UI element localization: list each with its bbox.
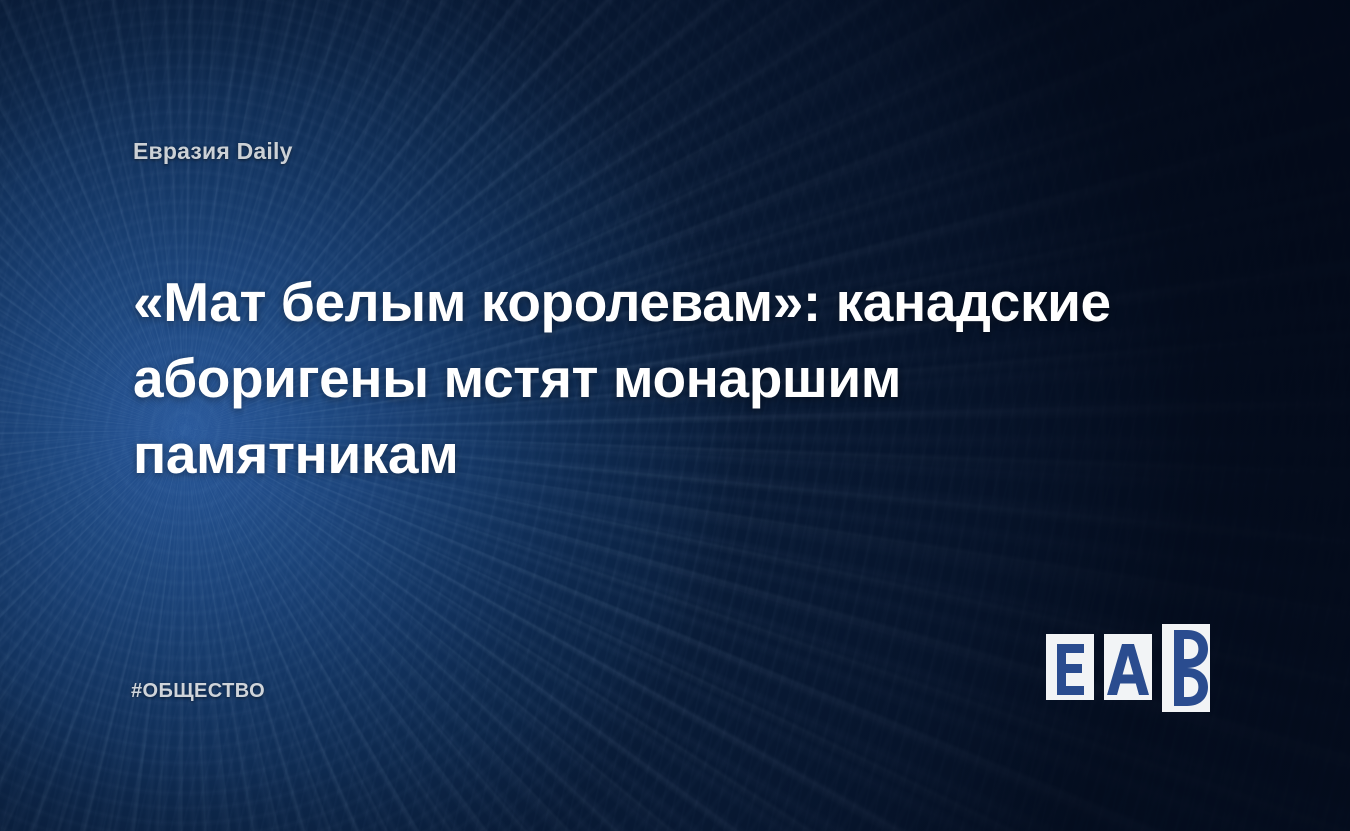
category-tag: #ОБЩЕСТВО (131, 680, 265, 703)
article-headline: «Мат белым королевам»: канадские абориге… (133, 264, 1143, 492)
logo-tile-e (1046, 634, 1094, 700)
social-share-card: Евразия Daily «Мат белым королевам»: кан… (0, 0, 1350, 831)
eadaily-logo (1046, 618, 1226, 718)
publisher-name: Евразия Daily (133, 138, 293, 165)
logo-tile-a (1104, 634, 1152, 700)
logo-tile-d (1162, 624, 1210, 712)
